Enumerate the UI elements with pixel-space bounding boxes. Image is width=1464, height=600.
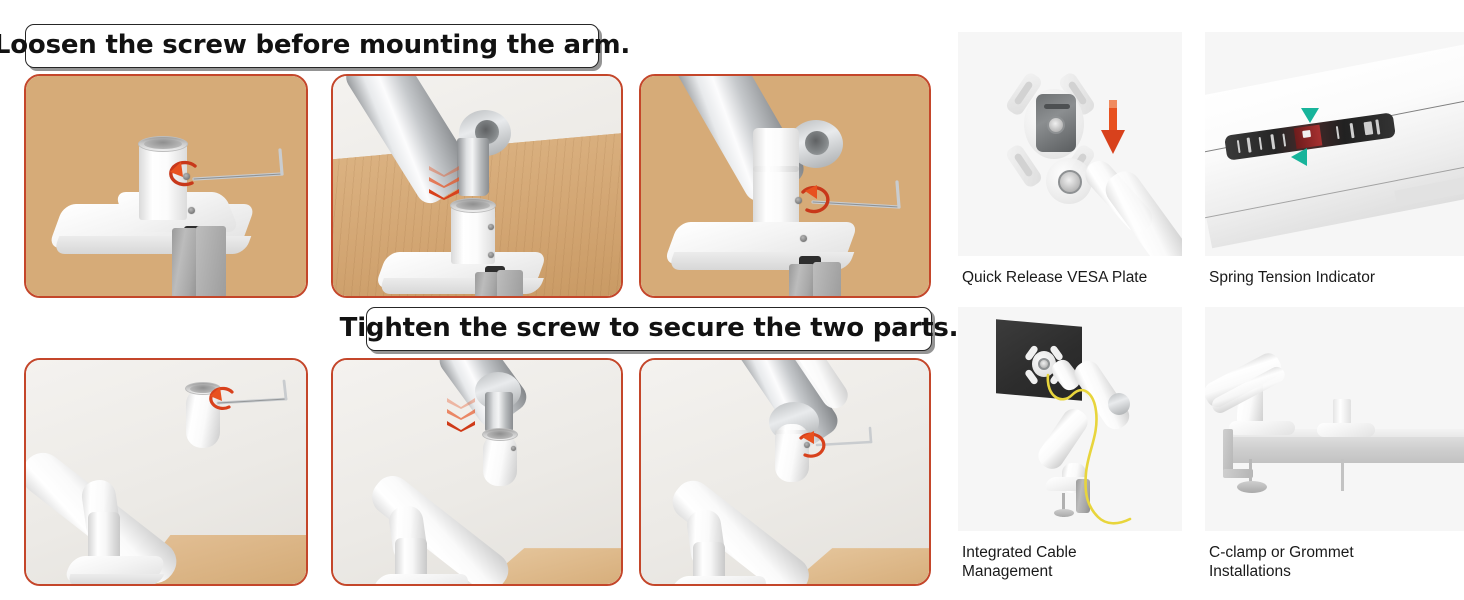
arm-screw bbox=[511, 446, 516, 451]
instruction-section: Loosen the screw before mounting the arm… bbox=[0, 0, 940, 600]
mount-base-edge bbox=[66, 574, 165, 586]
caption-banner-tighten: Tighten the screw to secure the two part… bbox=[366, 307, 932, 351]
arm-column-seam bbox=[395, 544, 427, 548]
feature-image-cable bbox=[958, 307, 1182, 531]
feature-label-clamp: C-clamp or Grommet Installations bbox=[1209, 543, 1464, 581]
arm-base-left bbox=[1229, 421, 1295, 435]
vesa-release-lever bbox=[1044, 104, 1070, 109]
desk-clamp-right bbox=[196, 226, 226, 298]
feature-image-vesa bbox=[958, 32, 1182, 256]
feature-cell-cable: Integrated Cable Management bbox=[958, 307, 1182, 582]
arm-column-seam bbox=[693, 548, 725, 552]
tension-marker-top-icon bbox=[1301, 108, 1319, 124]
cable-routing bbox=[1042, 369, 1162, 529]
feature-label-vesa: Quick Release VESA Plate bbox=[962, 268, 1182, 287]
desk-clamp-left bbox=[475, 272, 499, 298]
arm-insert-tip bbox=[457, 186, 489, 196]
desk-clamp-right bbox=[813, 262, 841, 298]
rotate-arrow-icon bbox=[161, 158, 207, 194]
instruction-step-image-3 bbox=[639, 74, 931, 298]
down-chevrons-icon bbox=[447, 398, 475, 434]
desk-clamp-right bbox=[497, 270, 523, 298]
c-clamp-knob bbox=[1237, 481, 1267, 493]
feature-label-spring: Spring Tension Indicator bbox=[1209, 268, 1464, 287]
caption-banner-loosen: Loosen the screw before mounting the arm… bbox=[25, 24, 599, 68]
grommet-base bbox=[1317, 423, 1375, 437]
post-bore bbox=[144, 139, 182, 149]
down-arrow-icon bbox=[1101, 100, 1125, 162]
post-seam bbox=[753, 166, 799, 172]
feature-image-spring bbox=[1205, 32, 1464, 256]
caption-text: Loosen the screw before mounting the arm… bbox=[0, 32, 630, 58]
desk-body bbox=[1225, 437, 1464, 463]
down-chevrons-icon bbox=[429, 166, 459, 202]
instruction-step-image-4 bbox=[24, 358, 308, 586]
instruction-step-image-5 bbox=[331, 358, 623, 586]
post-bore bbox=[456, 201, 490, 210]
feature-cell-vesa: Quick Release VESA Plate bbox=[958, 32, 1182, 290]
post-screw-upper bbox=[488, 224, 494, 230]
hex-key-tool bbox=[194, 168, 304, 202]
rotate-arrow-icon bbox=[791, 428, 835, 464]
arm-white-riser bbox=[483, 434, 517, 486]
vesa-center-hub bbox=[1047, 116, 1065, 134]
rotate-arrow-icon bbox=[202, 384, 244, 418]
arm-top-bore bbox=[487, 431, 513, 439]
instruction-step-image-1 bbox=[24, 74, 308, 298]
feature-cell-spring: Spring Tension Indicator bbox=[1205, 32, 1464, 290]
feature-image-clamp bbox=[1205, 307, 1464, 531]
feature-label-cable: Integrated Cable Management bbox=[962, 543, 1182, 581]
post-screw-lower bbox=[488, 252, 494, 258]
rotate-arrow-icon bbox=[793, 182, 839, 220]
arm-head-hub bbox=[1058, 170, 1082, 194]
tension-marker-bottom-icon bbox=[1291, 148, 1307, 166]
caption-text: Tighten the screw to secure the two part… bbox=[340, 315, 959, 341]
desk-clamp-left bbox=[789, 264, 815, 298]
desk-clamp-left bbox=[172, 228, 198, 298]
arm-joint-bore bbox=[805, 131, 829, 155]
mount-base-plate bbox=[371, 574, 472, 586]
feature-grid: Quick Release VESA Plate bbox=[958, 0, 1464, 600]
post-screw-lower bbox=[800, 235, 807, 242]
instruction-step-image-2 bbox=[331, 74, 623, 298]
feature-cell-clamp: C-clamp or Grommet Installations bbox=[1205, 307, 1464, 582]
post-screw-lower bbox=[188, 207, 195, 214]
arm-column-seam bbox=[88, 518, 120, 522]
grommet-rod bbox=[1341, 459, 1344, 491]
instruction-step-image-6 bbox=[639, 358, 931, 586]
mount-base-plate bbox=[669, 576, 770, 586]
